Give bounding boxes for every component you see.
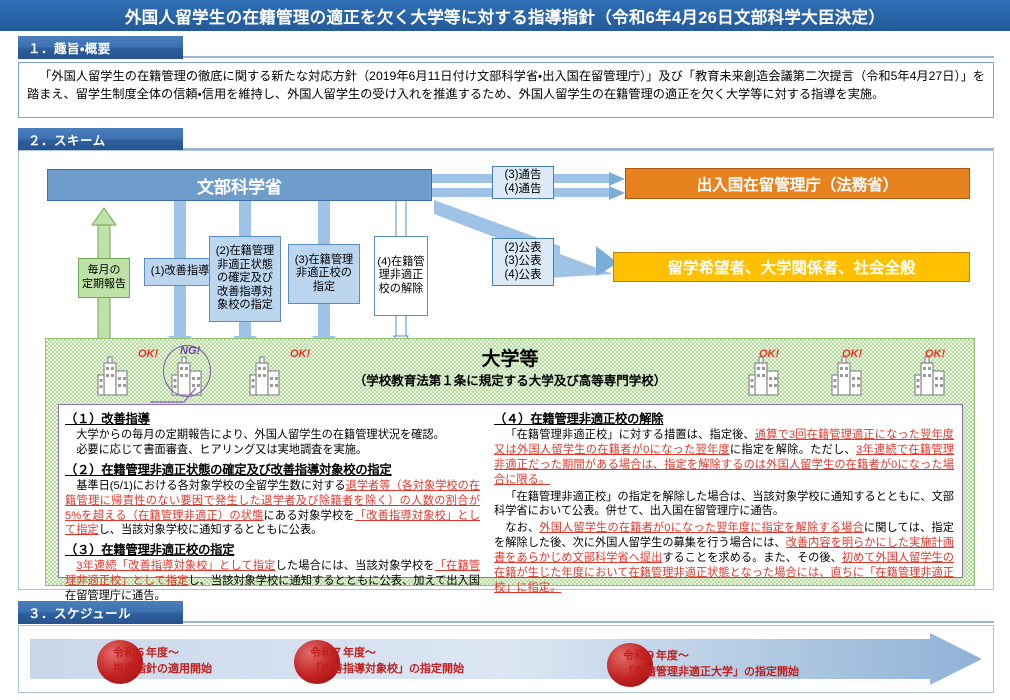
public-audience-label: 留学希望者、大学関係者、社会全般	[667, 256, 915, 278]
publish-line-3: (4)公表	[504, 269, 541, 283]
detail-1-body: 大学からの毎月の定期報告により、外国人留学生の在籍管理状況を確認。 必要に応じて…	[65, 428, 480, 458]
schedule-item-1-year: 令和６年度～	[113, 646, 212, 662]
section-header-schedule: ３．スケジュール	[18, 601, 183, 624]
schedule-item-1: 令和６年度～ 指導指針の適用開始	[113, 646, 212, 678]
immigration-agency-box: 出入国在留管理庁（法務省）	[625, 168, 970, 199]
mext-box: 文部科学省	[47, 169, 432, 201]
detail-4-body-c: なお、外国人留学生の在籍者が0になった翌年度に指定を解除する場合に関しては、指定…	[494, 521, 954, 595]
schedule-item-3: 令和９年度～ 「在籍管理非適正大学」の指定開始	[623, 649, 799, 681]
schedule-item-3-desc: 「在籍管理非適正大学」の指定開始	[623, 665, 799, 681]
detail-panel: （１）改善指導 大学からの毎月の定期報告により、外国人留学生の在籍管理状況を確認…	[58, 404, 963, 578]
detail-panel-left: （１）改善指導 大学からの毎月の定期報告により、外国人留学生の在籍管理状況を確認…	[59, 405, 486, 577]
detail-4-body-b: 「在籍管理非適正校」の指定を解除した場合は、当該対象学校に通知するとともに、文部…	[494, 490, 954, 520]
page-title: 外国人留学生の在籍管理の適正を欠く大学等に対する指導指針（令和6年4月26日文部…	[125, 4, 885, 28]
schedule-item-2: 令和７年度～ 「改善指導対象校」の指定開始	[310, 646, 464, 678]
step-box-4: (4)在籍管理非適正校の解除	[374, 236, 428, 316]
building-icon	[913, 355, 947, 397]
section-header-overview-label: １．趣旨・概要	[28, 38, 111, 57]
section-header-schedule-label: ３．スケジュール	[28, 603, 131, 622]
status-marker-ok-4: OK!	[842, 348, 862, 360]
schedule-item-2-year: 令和７年度～	[310, 646, 464, 662]
step-box-3-label: (3)在籍管理非適正校の指定	[291, 254, 357, 295]
building-icon	[248, 355, 282, 397]
detail-2-seg-2: にある対象学校を	[264, 510, 355, 522]
overview-text: 「外国人留学生の在籍管理の徹底に関する新たな対応方針（2019年6月11日付け文…	[27, 68, 985, 103]
immigration-agency-label: 出入国在留管理庁（法務省）	[697, 173, 899, 195]
detail-4-seg-6: することを求める。また、その後、	[662, 552, 842, 564]
detail-1-line-2: 必要に応じて書面審査、ヒアリング又は実地調査を実施。	[65, 443, 480, 458]
detail-4-seg-2: に指定を解除。ただし、	[730, 444, 856, 456]
publish-line-2: (3)公表	[504, 255, 541, 269]
status-marker-ok-3: OK!	[759, 348, 779, 360]
detail-1-heading: （１）改善指導	[65, 409, 480, 427]
detail-2-seg-1: 基準日(5/1)における各対象学校の全留学生数に対する	[76, 480, 345, 492]
detail-3-highlight-1: 3年連続「改善指導対象校」として指定	[76, 560, 275, 572]
detail-2-body: 基準日(5/1)における各対象学校の全留学生数に対する退学者等（各対象学校の在籍…	[65, 479, 480, 539]
detail-4-seg-4: なお、	[505, 522, 539, 534]
section-header-scheme: ２．スキーム	[18, 128, 183, 151]
building-icon	[96, 355, 130, 397]
detail-4-body-a: 「在籍管理非適正校」に対する措置は、指定後、通算で3回在籍管理適正になった翌年度…	[494, 428, 954, 488]
schedule-item-1-desc: 指導指針の適用開始	[113, 662, 212, 678]
notify-line-2: (4)通告	[504, 183, 541, 197]
detail-4-heading: （４）在籍管理非適正校の解除	[494, 409, 954, 427]
overview-text-box: 「外国人留学生の在籍管理の徹底に関する新たな対応方針（2019年6月11日付け文…	[18, 62, 994, 118]
step-box-4-label: (4)在籍管理非適正校の解除	[377, 256, 425, 297]
step-box-2-label: (2)在籍管理非適正状態の確定及び改善指導対象校の指定	[212, 245, 278, 313]
detail-4-seg-1: 「在籍管理非適正校」に対する措置は、指定後、	[505, 429, 755, 441]
building-icon	[747, 355, 781, 397]
mext-label: 文部科学省	[197, 173, 282, 198]
detail-2-heading: （２）在籍管理非適正状態の確定及び改善指導対象校の指定	[65, 460, 480, 478]
detail-3-body: 3年連続「改善指導対象校」として指定した場合には、当該対象学校を「在籍管理非適正…	[65, 559, 480, 604]
detail-3-seg-1: した場合には、当該対象学校を	[276, 560, 435, 572]
monthly-report-box: 毎月の 定期報告	[78, 258, 130, 298]
notify-line-1: (3)通告	[504, 169, 541, 183]
detail-panel-right: （４）在籍管理非適正校の解除 「在籍管理非適正校」に対する措置は、指定後、通算で…	[486, 405, 962, 577]
detail-4-highlight-3: 外国人留学生の在籍者が0になった翌年度に指定を解除する場合	[539, 522, 864, 534]
building-icon	[830, 355, 864, 397]
monthly-report-line-1: 毎月の	[88, 264, 121, 278]
publish-line-1: (2)公表	[504, 242, 541, 256]
schedule-item-3-year: 令和９年度～	[623, 649, 799, 665]
detail-1-line-1: 大学からの毎月の定期報告により、外国人留学生の在籍管理状況を確認。	[65, 428, 480, 443]
connector-label-notify: (3)通告 (4)通告	[492, 166, 554, 199]
connector-label-publish: (2)公表 (3)公表 (4)公表	[492, 238, 554, 286]
step-box-1: (1)改善指導	[144, 258, 216, 286]
section-divider-3	[183, 621, 994, 623]
step-box-2: (2)在籍管理非適正状態の確定及び改善指導対象校の指定	[209, 236, 281, 322]
monthly-report-line-2: 定期報告	[82, 278, 126, 292]
step-box-3: (3)在籍管理非適正校の指定	[288, 244, 360, 304]
detail-2-seg-3: し、当該対象学校に通知するとともに公表。	[99, 524, 323, 536]
status-marker-ng: NG!	[180, 345, 200, 357]
step-box-1-label: (1)改善指導	[151, 265, 209, 279]
page-title-bar: 外国人留学生の在籍管理の適正を欠く大学等に対する指導指針（令和6年4月26日文部…	[0, 0, 1010, 31]
public-audience-box: 留学希望者、大学関係者、社会全般	[613, 252, 970, 282]
detail-3-heading: （３）在籍管理非適正校の指定	[65, 540, 480, 558]
section-header-scheme-label: ２．スキーム	[28, 130, 106, 149]
status-marker-ok-5: OK!	[925, 348, 945, 360]
detail-4-seg-3: 「在籍管理非適正校」の指定を解除した場合は、当該対象学校に通知するとともに、文部…	[494, 490, 954, 520]
schedule-item-2-desc: 「改善指導対象校」の指定開始	[310, 662, 464, 678]
status-marker-ok-2: OK!	[290, 348, 310, 360]
section-divider-1	[183, 56, 994, 58]
status-marker-ok-1: OK!	[138, 348, 158, 360]
section-header-overview: １．趣旨・概要	[18, 36, 183, 59]
